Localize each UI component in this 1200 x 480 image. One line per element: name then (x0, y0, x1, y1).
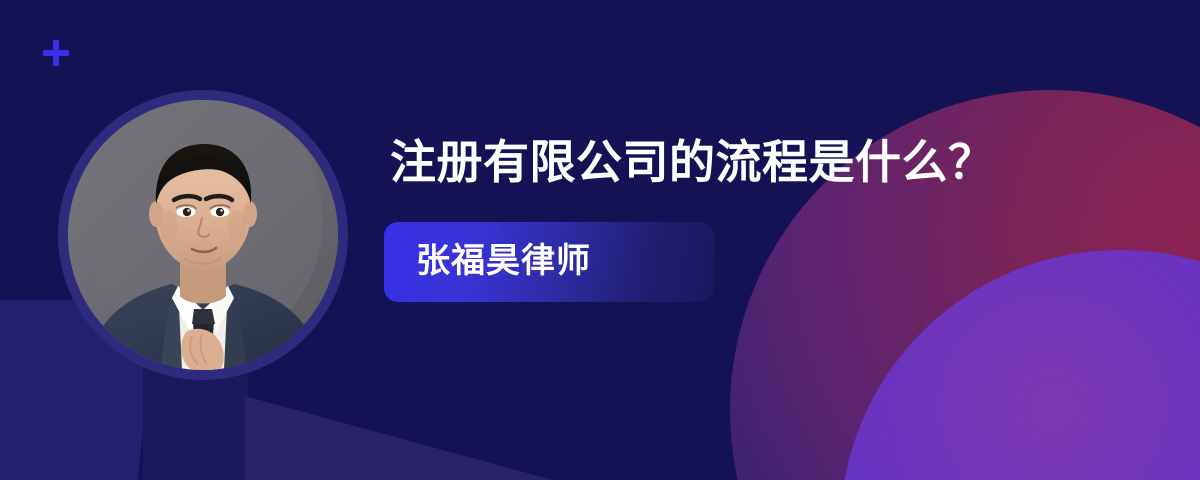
page-title: 注册有限公司的流程是什么？ (390, 118, 1090, 206)
avatar-portrait-icon (68, 100, 338, 370)
lawyer-name-badge[interactable]: 张福昊律师 (384, 222, 714, 302)
avatar (58, 90, 348, 380)
plus-icon (43, 40, 69, 66)
avatar-portrait-photo (68, 100, 338, 370)
promo-card: 注册有限公司的流程是什么？ 张福昊律师 (0, 0, 1200, 480)
decor-triangle-wedge (245, 396, 575, 480)
content-column: 注册有限公司的流程是什么？ 张福昊律师 (390, 118, 1120, 302)
